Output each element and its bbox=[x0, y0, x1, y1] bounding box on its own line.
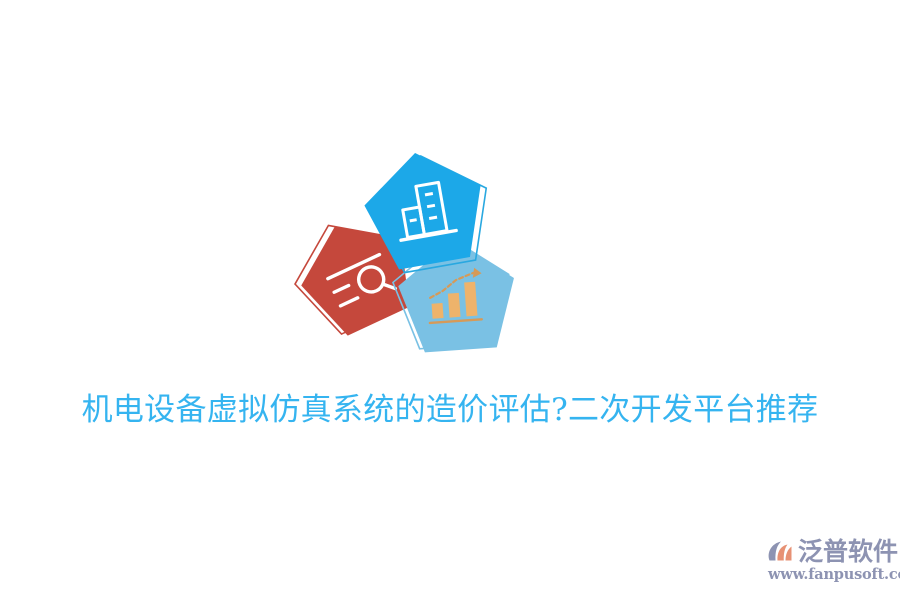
pentagon-building bbox=[285, 140, 535, 365]
logo-company-name: 泛普软件 bbox=[798, 539, 898, 565]
pentagon-body bbox=[357, 143, 493, 274]
fanpu-logo[interactable]: 泛普软件 www.fanpusoft.com bbox=[766, 536, 892, 588]
fanpu-swoosh-logo-icon bbox=[766, 539, 796, 565]
logo-row: 泛普软件 bbox=[766, 536, 898, 568]
pentagon-icon-cluster bbox=[285, 140, 535, 365]
slide-canvas: 机电设备虚拟仿真系统的造价评估?二次开发平台推荐 泛普软件 www.fanpus… bbox=[0, 0, 900, 600]
logo-website: www.fanpusoft.com bbox=[768, 566, 900, 583]
page-title: 机电设备虚拟仿真系统的造价评估?二次开发平台推荐 bbox=[0, 388, 900, 432]
